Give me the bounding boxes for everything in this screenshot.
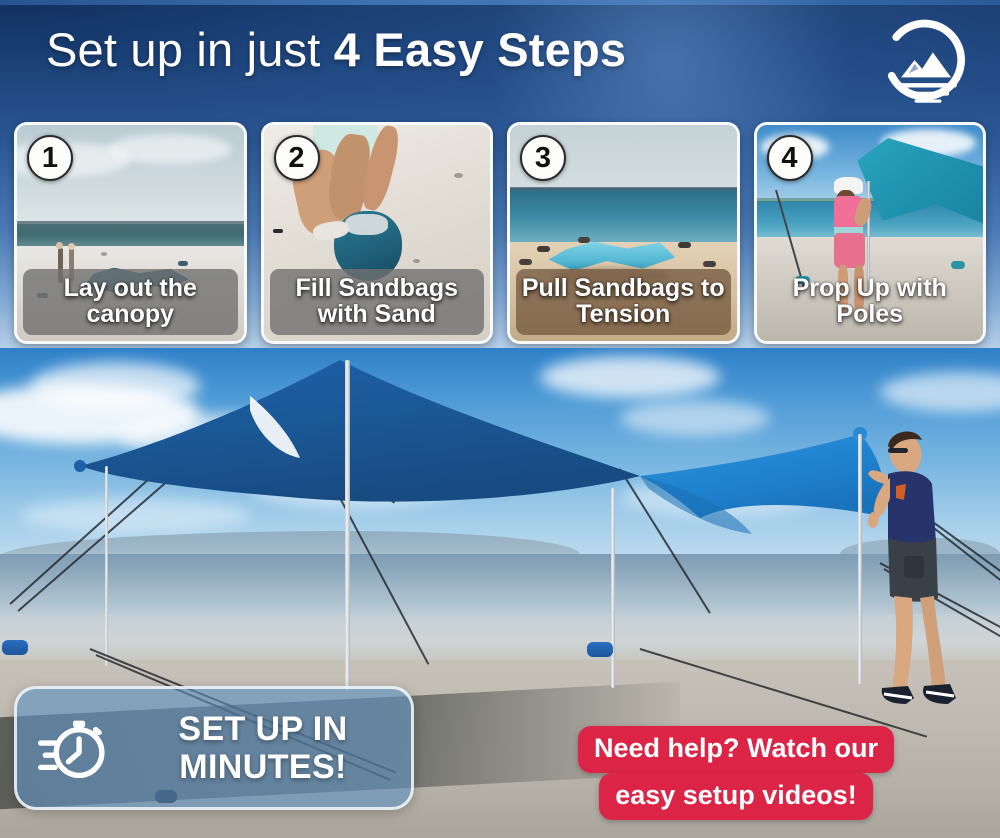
canopy-pole-right (858, 434, 862, 684)
step-number-badge-3: 3 (520, 135, 566, 181)
canopy-pole-mid (611, 488, 615, 688)
sandbag-anchor-left (2, 640, 28, 655)
canopy-shade (0, 348, 1000, 648)
setup-time-line-2: MINUTES! (129, 748, 397, 786)
step-card-1[interactable]: 1 Lay out the canopy (14, 122, 247, 344)
page-title-light: Set up in just (46, 23, 321, 76)
setup-time-badge: SET UP IN MINUTES! (14, 686, 414, 810)
step-caption-2: Fill Sandbags with Sand (270, 269, 485, 335)
infographic-root: Set up in just 4 Easy Steps (0, 0, 1000, 838)
page-title-bold: 4 Easy Steps (334, 23, 626, 76)
step-caption-1: Lay out the canopy (23, 269, 238, 335)
steps-row: 1 Lay out the canopy 2 Fil (14, 122, 986, 344)
step-number-badge-1: 1 (27, 135, 73, 181)
step-caption-3: Pull Sandbags to Tension (516, 269, 731, 335)
help-videos-line-2: easy setup videos! (599, 773, 873, 820)
stopwatch-icon (17, 710, 129, 786)
help-videos-line-1: Need help? Watch our (578, 726, 894, 773)
sandbag-anchor-mid (587, 642, 613, 657)
step-caption-4: Prop Up with Poles (763, 269, 978, 335)
canopy-pole-left (105, 466, 108, 666)
step-card-3[interactable]: 3 Pull Sandbags to Tension (507, 122, 740, 344)
mountain-sun-circle-logo-icon (880, 14, 976, 110)
page-title: Set up in just 4 Easy Steps (46, 22, 626, 77)
step-number-badge-4: 4 (767, 135, 813, 181)
step-card-2[interactable]: 2 Fill Sandbags with Sand (261, 122, 494, 344)
setup-time-line-1: SET UP IN (129, 710, 397, 748)
person-setting-up-canopy (866, 426, 976, 726)
help-videos-banner[interactable]: Need help? Watch our easy setup videos! (566, 726, 906, 820)
step-number-badge-2: 2 (274, 135, 320, 181)
setup-time-text: SET UP IN MINUTES! (129, 710, 411, 786)
step-card-4[interactable]: 4 Prop Up with Poles (754, 122, 987, 344)
canopy-pole-center (345, 360, 350, 690)
